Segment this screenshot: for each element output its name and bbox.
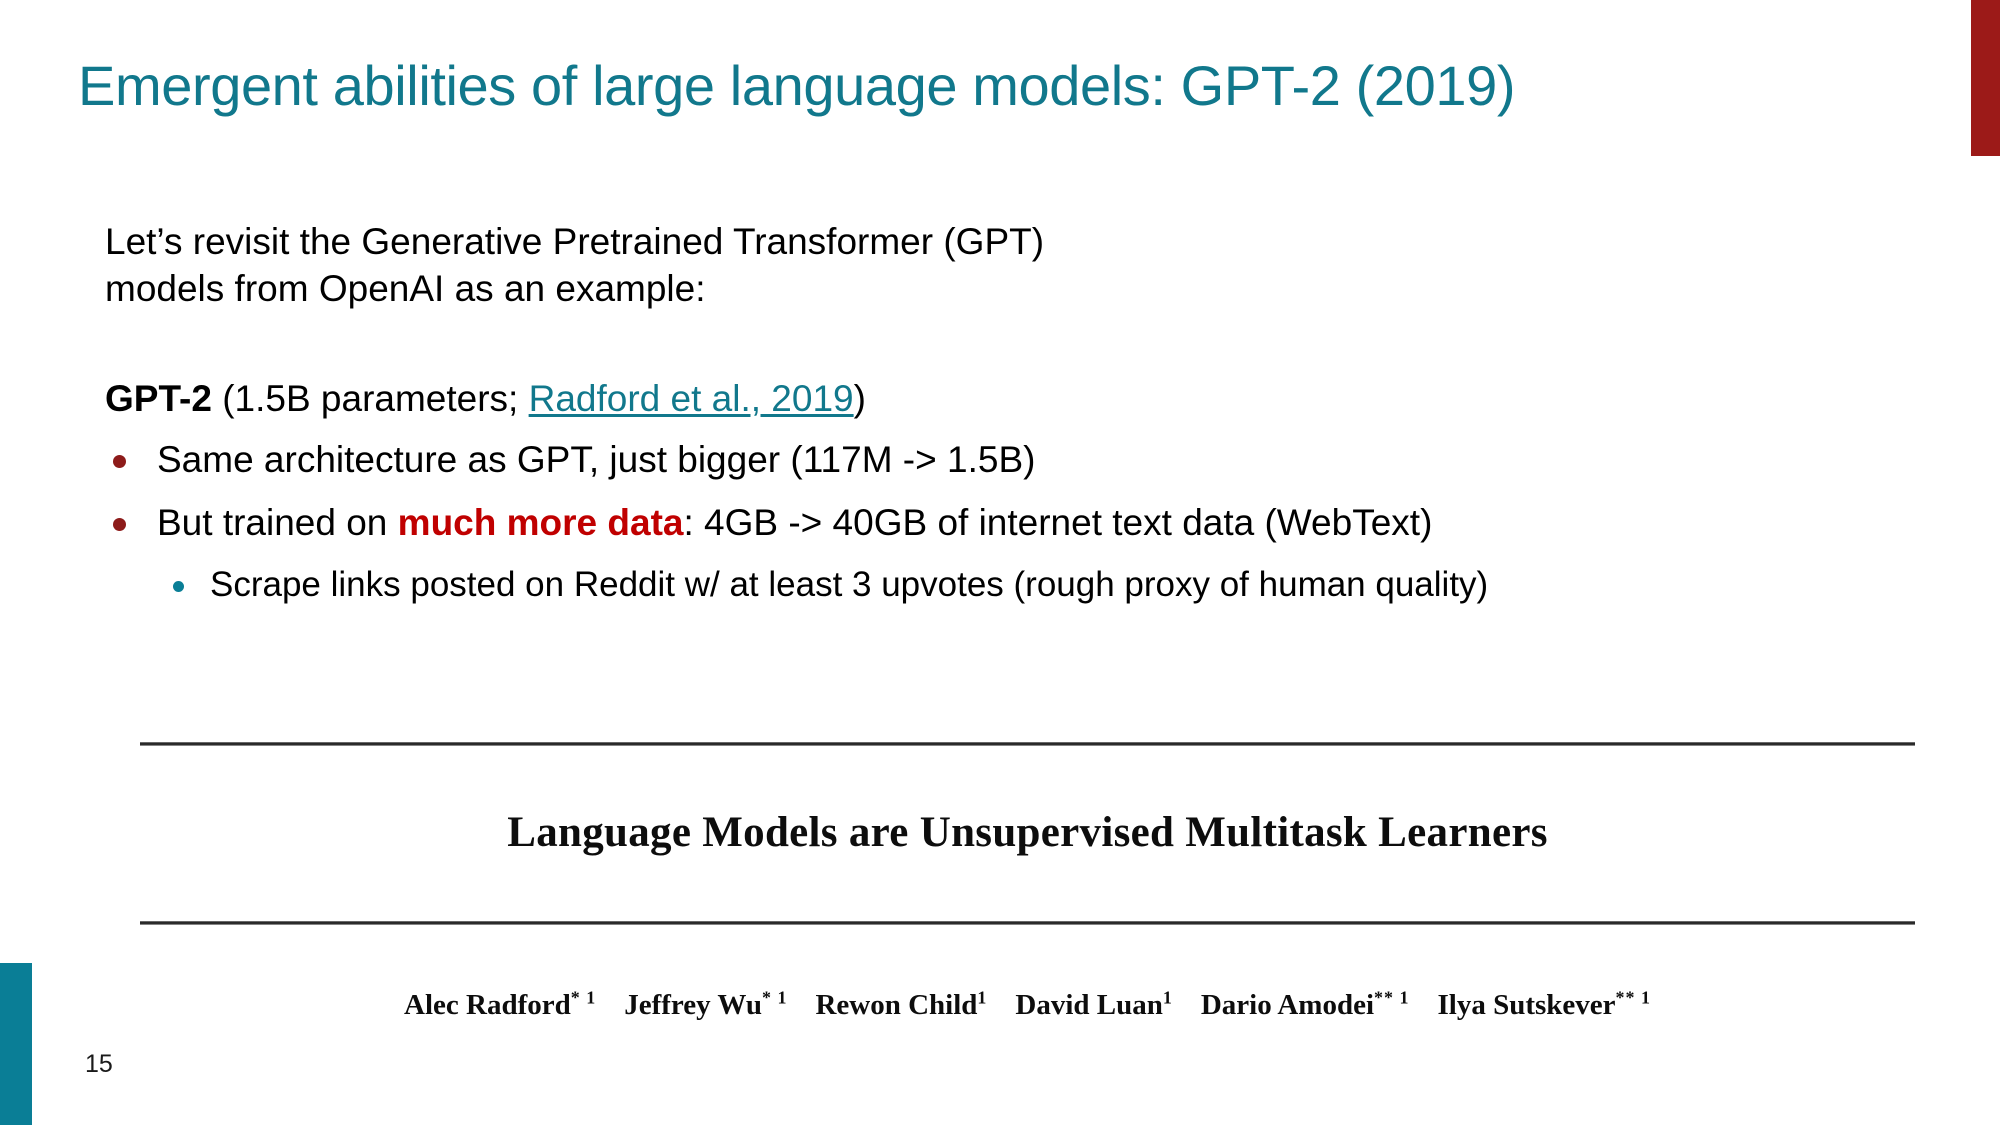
gpt2-params-open: (1.5B parameters; bbox=[212, 378, 529, 419]
slide-canvas: Emergent abilities of large language mod… bbox=[0, 0, 2000, 1125]
gpt2-params-close: ) bbox=[854, 378, 866, 419]
bullet-training-data-highlight: much more data bbox=[398, 502, 684, 543]
paper-author-list: Alec Radford* 1Jeffrey Wu* 1Rewon Child1… bbox=[140, 925, 1915, 1022]
bullet-training-data-suffix: : 4GB -> 40GB of internet text data (Web… bbox=[683, 502, 1432, 543]
bullet-training-data-prefix: But trained on bbox=[157, 502, 398, 543]
radford-2019-link[interactable]: Radford et al., 2019 bbox=[529, 378, 854, 419]
paper-author: Ilya Sutskever** 1 bbox=[1437, 989, 1651, 1021]
slide-body: Let’s revisit the Generative Pretrained … bbox=[105, 218, 1905, 608]
paper-author: David Luan1 bbox=[1015, 989, 1172, 1021]
paper-author: Jeffrey Wu* 1 bbox=[624, 989, 787, 1021]
page-title: Emergent abilities of large language mod… bbox=[78, 55, 1515, 117]
paper-title: Language Models are Unsupervised Multita… bbox=[140, 746, 1915, 921]
paper-author-affiliation-mark: * 1 bbox=[762, 987, 787, 1007]
paper-screenshot: Language Models are Unsupervised Multita… bbox=[140, 742, 1915, 1022]
paper-author-affiliation-mark: ** 1 bbox=[1616, 987, 1651, 1007]
bullet-training-data: But trained on much more data: 4GB -> 40… bbox=[105, 499, 1905, 548]
gpt2-model-label: GPT-2 bbox=[105, 378, 212, 419]
paper-author-affiliation-mark: 1 bbox=[1163, 987, 1173, 1007]
intro-paragraph: Let’s revisit the Generative Pretrained … bbox=[105, 218, 1905, 313]
paper-author-affiliation-mark: 1 bbox=[977, 987, 987, 1007]
paper-author-affiliation-mark: * 1 bbox=[571, 987, 596, 1007]
gpt2-heading-line: GPT-2 (1.5B parameters; Radford et al., … bbox=[105, 313, 1905, 422]
bullet-reddit-scrape: Scrape links posted on Reddit w/ at leas… bbox=[105, 562, 1905, 608]
accent-bar-teal-bottom-left bbox=[0, 963, 32, 1125]
paper-author: Alec Radford* 1 bbox=[404, 989, 596, 1021]
bullet-architecture: Same architecture as GPT, just bigger (1… bbox=[105, 436, 1905, 485]
paper-author: Rewon Child1 bbox=[815, 989, 987, 1021]
bullet-list: Same architecture as GPT, just bigger (1… bbox=[105, 436, 1905, 608]
paper-author-affiliation-mark: ** 1 bbox=[1374, 987, 1409, 1007]
page-number: 15 bbox=[85, 1050, 113, 1079]
accent-bar-red-top-right bbox=[1971, 0, 2000, 156]
paper-author: Dario Amodei** 1 bbox=[1201, 989, 1410, 1021]
